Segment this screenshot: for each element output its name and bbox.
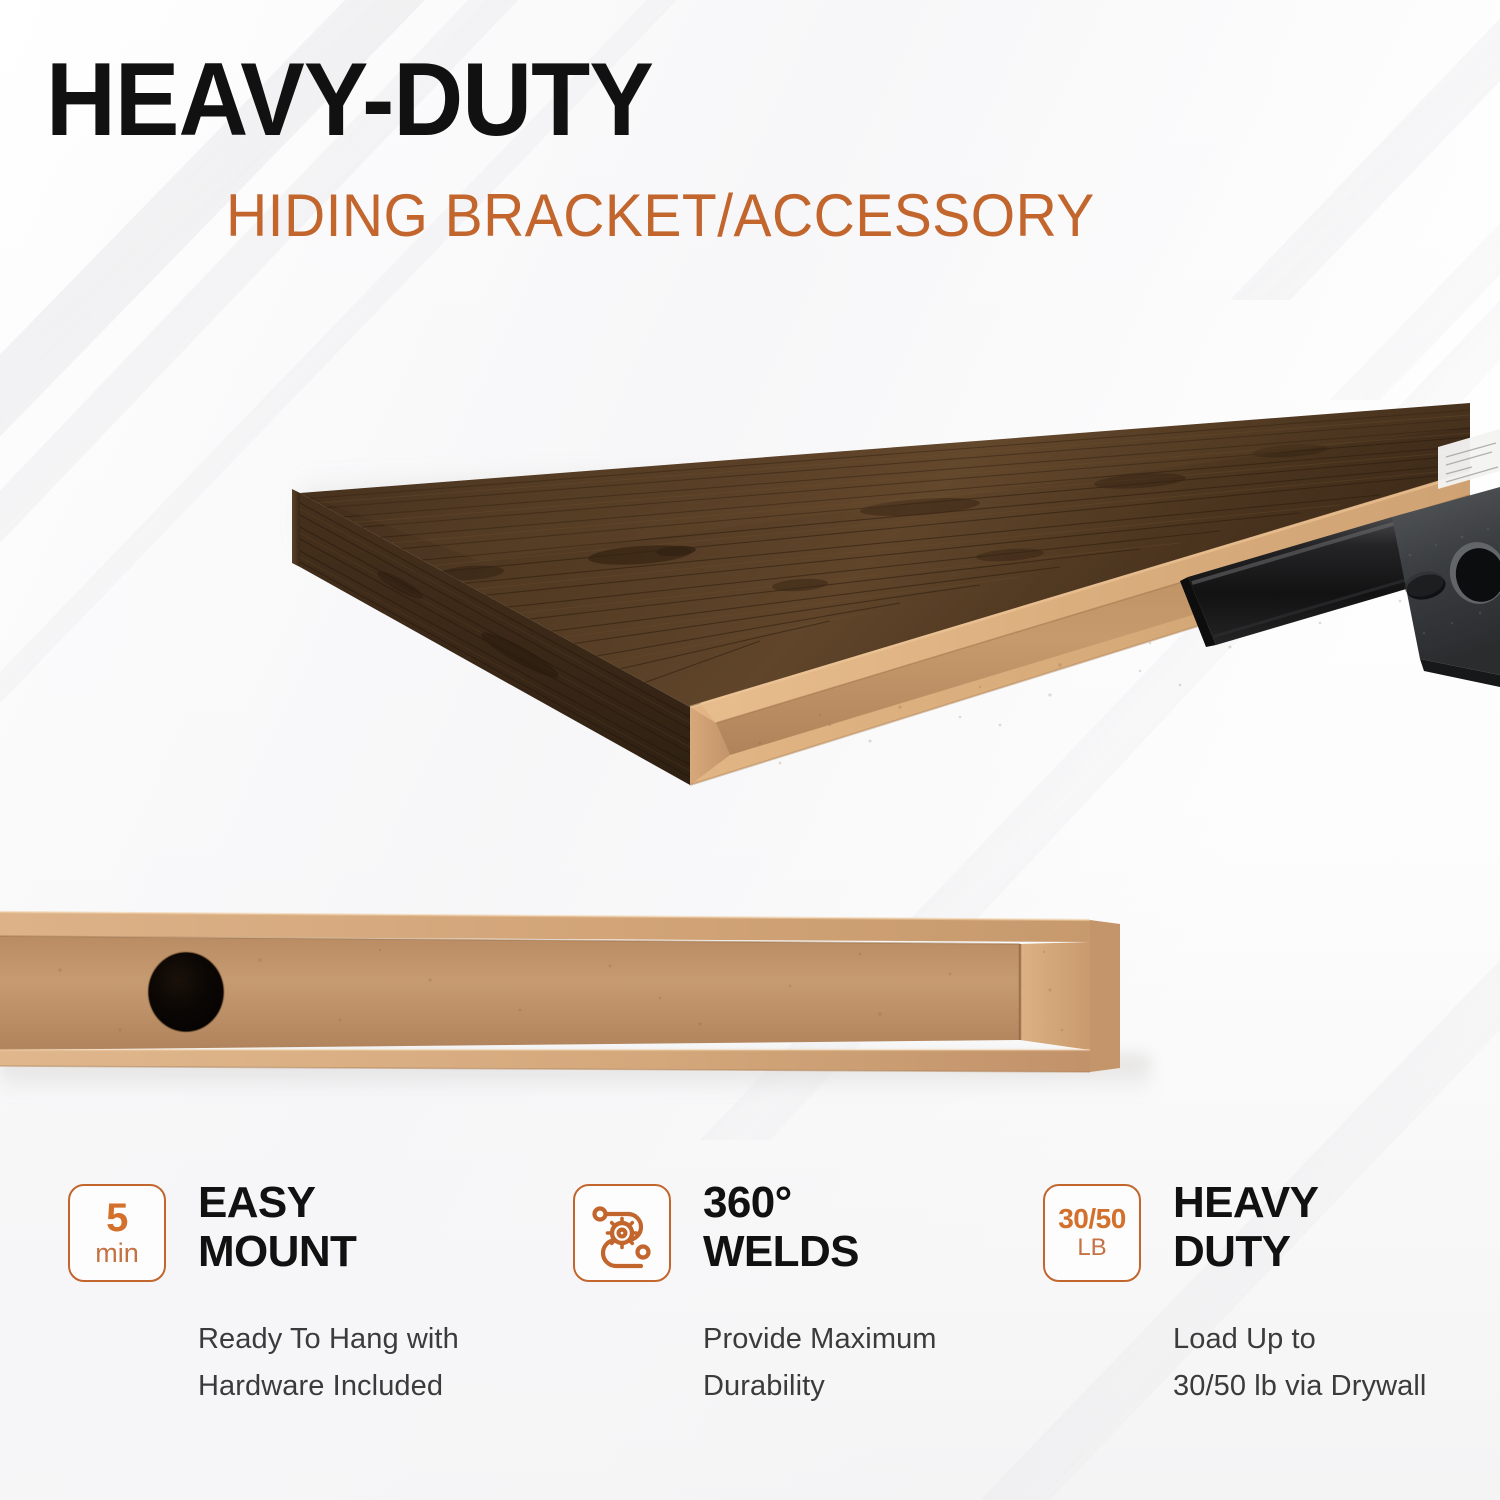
page-subtitle: HIDING BRACKET/ACCESSORY <box>226 186 1095 246</box>
feature-description: Provide Maximum Durability <box>703 1316 937 1410</box>
feature-title: EASY MOUNT <box>198 1178 356 1277</box>
channel-cross-section-photo <box>0 890 1180 1090</box>
feature-description: Load Up to 30/50 lb via Drywall <box>1173 1316 1426 1410</box>
five-minute-badge-icon: 5 min <box>68 1184 166 1282</box>
badge-unit: min <box>95 1239 139 1267</box>
hero-product-photo <box>0 255 1500 855</box>
feature-strip: 5 min EASY MOUNT Ready To Hang with Hard… <box>0 1120 1500 1500</box>
feature-title: 360° WELDS <box>703 1178 859 1277</box>
badge-value: 5 <box>106 1199 128 1237</box>
load-capacity-badge-icon: 30/50 LB <box>1043 1184 1141 1282</box>
badge-unit: LB <box>1077 1235 1106 1260</box>
page-title: HEAVY-DUTY <box>46 48 653 152</box>
feature-title: HEAVY DUTY <box>1173 1178 1318 1277</box>
feature-description: Ready To Hang with Hardware Included <box>198 1316 459 1410</box>
weld-path-gear-icon <box>573 1184 671 1282</box>
product-marketing-image: HEAVY-DUTY HIDING BRACKET/ACCESSORY <box>0 0 1500 1500</box>
badge-value: 30/50 <box>1058 1206 1126 1233</box>
